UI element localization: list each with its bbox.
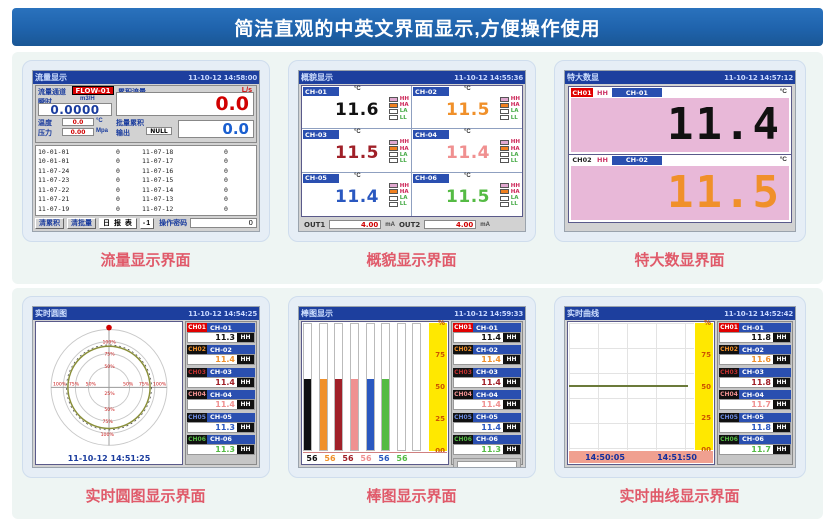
alarm-badge: HH [237, 423, 254, 432]
flow-pressure-unit: Mpa [96, 128, 108, 134]
panel5-screen: 棒图显示 11-10-12 14:59:33 00255075% 5656565… [298, 306, 526, 468]
panel6-screen: 实时曲线 11-10-12 14:52:42 00255075% 14:50:0… [564, 306, 796, 468]
channel-list-item[interactable]: CH01CH-0111.4HH [453, 323, 521, 344]
flow-channel-tag[interactable]: FLOW-01 [72, 86, 114, 95]
channel-value: 11.4 [302, 186, 379, 208]
bar-fill [351, 379, 358, 450]
channel-index-badge: CH03 [453, 368, 473, 377]
table-row: 10-01-01011-07-180 [38, 147, 254, 157]
alarm-label: HH [400, 183, 409, 189]
bar-fill [304, 379, 311, 450]
bar-column [334, 323, 343, 451]
panel2-timestamp: 11-10-12 14:55:36 [454, 74, 523, 82]
panel-polar-display[interactable]: 实时圆图 11-10-12 14:54:25 [22, 296, 270, 478]
channel-tag: CH-01 [303, 87, 339, 96]
overview-channel-cell[interactable]: CH-03°C11.5HHHALALL [302, 129, 412, 172]
alarm-row: HA [500, 189, 520, 195]
channel-list-item[interactable]: CH01CH-0111.8HH [719, 323, 791, 344]
panel4-titlebar: 实时圆图 11-10-12 14:54:25 [33, 307, 259, 320]
alarm-row: HA [500, 102, 520, 108]
bar-fill [382, 379, 389, 450]
bar-chart-value-row: 565656565656 [303, 452, 447, 464]
channel-name: CH-06 [473, 435, 521, 443]
channel-index-badge: CH04 [187, 390, 207, 399]
overview-output-bar: OUT1 4.00 mA OUT2 4.00 mA [301, 219, 523, 230]
panel2-titlebar: 概貌显示 11-10-12 14:55:36 [299, 71, 525, 84]
channel-value: 11.4 [454, 355, 503, 364]
channel-header: CH04CH-04 [719, 390, 791, 399]
channel-index-badge: CH02 [187, 345, 207, 354]
channel-value: 11.5 [412, 99, 490, 121]
alarm-indicator-icon [389, 97, 398, 102]
alarm-row: LA [500, 152, 520, 158]
channel-header: CH04CH-04 [187, 390, 255, 399]
alarm-label: HA [511, 146, 520, 152]
channel-value-row: 11.7HH [719, 399, 791, 410]
row-value-1: 0 [94, 195, 142, 203]
channel-index-badge: CH06 [453, 435, 473, 444]
row-value-1: 0 [94, 167, 142, 175]
alarm-badge: HH [773, 400, 790, 409]
channel-value: 11.8 [720, 423, 773, 432]
channel-header: CH05CH-05 [187, 413, 255, 422]
channel-value-row: 11.8HH [719, 422, 791, 433]
bar-column [412, 323, 421, 451]
channel-name: CH-02 [207, 346, 255, 354]
scale-tick-label: 75 [435, 351, 445, 359]
row-date-2: 11-07-15 [142, 176, 198, 184]
alarm-badge: HH [503, 355, 520, 364]
channel-list-item[interactable]: CH05CH-0511.4HH [453, 413, 521, 434]
panel3-titlebar: 特大数显 11-10-12 14:57:12 [565, 71, 795, 84]
alarm-badge: HH [237, 333, 254, 342]
polar-channel-list: CH01CH-0111.3HHCH02CH-0211.4HHCH03CH-031… [185, 321, 257, 465]
channel-value: 11.4 [454, 423, 503, 432]
row-value-1: 0 [94, 176, 142, 184]
panel-bar-display[interactable]: 棒图显示 11-10-12 14:59:33 00255075% 5656565… [288, 296, 536, 478]
bar-chart-scale: 00255075% [429, 323, 447, 451]
alarm-label: LA [400, 195, 408, 201]
channel-header: CH06CH-06 [187, 435, 255, 444]
channel-name: CH-05 [739, 413, 791, 421]
row-value-1: 0 [94, 205, 142, 213]
row-value-2: 0 [198, 157, 254, 165]
big-digit-block[interactable]: CH02HHCH-02°C11.5 [569, 155, 791, 223]
clear-accumulation-button[interactable]: 清累积 [35, 218, 64, 229]
alarm-indicator-icon [389, 109, 398, 114]
big-digit-value: 11.4 [667, 103, 781, 147]
alarm-row: HH [389, 139, 409, 145]
alarm-row: LA [389, 152, 409, 158]
channel-header: CH01CH-01 [719, 323, 791, 332]
bar-column [303, 323, 312, 451]
panel2-title: 概貌显示 [301, 72, 333, 83]
channel-index-badge: CH02 [453, 345, 473, 354]
alarm-label: LA [511, 152, 519, 158]
trend-chart-area[interactable]: 00255075% 14:50:05 14:51:50 [567, 321, 715, 465]
trend-time-start: 14:50:05 [569, 453, 641, 462]
channel-unit: °C [780, 88, 787, 95]
panel1-timestamp: 11-10-12 14:58:00 [188, 74, 257, 82]
channel-value: 11.3 [188, 423, 237, 432]
row-date-2: 11-07-13 [142, 195, 198, 203]
channel-name: CH-02 [473, 346, 521, 354]
channel-index-badge: CH01 [187, 323, 207, 332]
channel-tag: CH-04 [413, 130, 449, 139]
bar-channel-list: CH01CH-0111.4HHCH02CH-0211.4HHCH03CH-031… [451, 321, 523, 465]
panel-overview-display[interactable]: 概貌显示 11-10-12 14:55:36 CH-01°C11.6HHHALA… [288, 60, 536, 242]
row-date-2: 11-07-12 [142, 205, 198, 213]
channel-value: 11.3 [188, 445, 237, 454]
channel-index-badge: CH02 [571, 156, 593, 165]
big-digit-header: CH01HHCH-01°C [569, 87, 791, 98]
channel-list-item[interactable]: CH03CH-0311.8HH [719, 368, 791, 389]
bar-column [381, 323, 390, 451]
table-row: 11-07-24011-07-160 [38, 166, 254, 176]
channel-value: 11.7 [720, 445, 773, 454]
svg-text:100%: 100% [153, 382, 167, 388]
channel-list-item[interactable]: CH06CH-0611.3HH [453, 435, 521, 456]
alarm-label: HH [511, 139, 520, 145]
channel-list-item[interactable]: CH02CH-0211.6HH [719, 345, 791, 366]
alarm-label: HH [511, 96, 520, 102]
alarm-indicator-group: HHHALALL [389, 139, 409, 164]
channel-value: 11.8 [720, 333, 773, 342]
channel-name: CH-05 [473, 413, 521, 421]
alarm-indicator-icon [389, 103, 398, 108]
row-value-2: 0 [198, 148, 254, 156]
alarm-row: LL [500, 201, 520, 207]
trend-time-axis: 14:50:05 14:51:50 [569, 451, 713, 463]
row-date-1: 10-01-01 [38, 157, 94, 165]
alarm-row: LA [389, 108, 409, 114]
alarm-row: LL [389, 115, 409, 121]
out2-value: 4.00 [424, 220, 476, 229]
channel-value: 11.4 [188, 378, 237, 387]
channel-name: CH-03 [739, 368, 791, 376]
channel-value-row: 11.4HH [453, 377, 521, 388]
alarm-indicator-group: HHHALALL [500, 183, 520, 208]
channel-list-item[interactable]: CH05CH-0511.8HH [719, 413, 791, 434]
channel-unit: °C [780, 156, 787, 163]
alarm-label: HA [511, 189, 520, 195]
channel-value-row: 11.3HH [453, 444, 521, 455]
alarm-indicator-icon [500, 140, 509, 145]
row-value-1: 0 [94, 148, 142, 156]
panel5-title: 棒图显示 [301, 308, 333, 319]
alarm-badge: HH [237, 355, 254, 364]
channel-index-badge: CH03 [187, 368, 207, 377]
step-back-button[interactable]: -1 [140, 218, 154, 229]
bar-column [366, 323, 375, 451]
overview-channel-cell[interactable]: CH-06°C11.5HHHALALL [412, 173, 522, 216]
channel-value: 11.3 [188, 333, 237, 342]
channel-name: CH-05 [207, 413, 255, 421]
alarm-indicator-group: HHHALALL [500, 139, 520, 164]
channel-list-item[interactable]: CH02CH-0211.4HH [453, 345, 521, 366]
channel-value: 11.5 [412, 186, 490, 208]
channel-list-item[interactable]: CH01CH-0111.3HH [187, 323, 255, 344]
bar-column [397, 323, 406, 451]
channel-index-badge: CH06 [187, 435, 207, 444]
svg-text:100%: 100% [101, 432, 115, 438]
row-date-1: 11-07-22 [38, 186, 94, 194]
channel-name: CH-04 [473, 391, 521, 399]
panel1-titlebar: 流量显示 11-10-12 14:58:00 [33, 71, 259, 84]
panel6-title: 实时曲线 [567, 308, 599, 319]
scale-tick-label: 50 [701, 383, 711, 391]
alarm-label: LL [511, 115, 518, 121]
alarm-badge: HH [237, 445, 254, 454]
row-date-2: 11-07-16 [142, 167, 198, 175]
row-value-2: 0 [198, 205, 254, 213]
panel5-titlebar: 棒图显示 11-10-12 14:59:33 [299, 307, 525, 320]
channel-header: CH05CH-05 [453, 413, 521, 422]
channel-header: CH03CH-03 [453, 368, 521, 377]
alarm-badge: HH [773, 333, 790, 342]
panel-flow-display[interactable]: 流量显示 11-10-12 14:58:00 流量通道 FLOW-01 累积流量… [22, 60, 270, 242]
channel-list-item[interactable]: CH04CH-0411.4HH [453, 390, 521, 411]
scale-tick-label: 25 [701, 414, 711, 422]
big-digit-value: 11.5 [667, 171, 781, 215]
alarm-badge: HH [503, 378, 520, 387]
page-root: 简洁直观的中英文界面显示,方便操作使用 流量显示 11-10-12 14:58:… [0, 0, 835, 531]
channel-value: 11.4 [412, 142, 490, 164]
scale-tick-label: 75 [701, 351, 711, 359]
svg-text:100%: 100% [53, 382, 67, 388]
clear-batch-button[interactable]: 清批量 [67, 218, 96, 229]
panel4-title: 实时圆图 [35, 308, 67, 319]
panel6-body: 00255075% 14:50:05 14:51:50 CH01CH-0111.… [565, 320, 795, 467]
alarm-row: HH [500, 183, 520, 189]
alarm-indicator-icon [389, 146, 398, 151]
alarm-row: LL [389, 158, 409, 164]
alarm-label: HH [400, 96, 409, 102]
flow-temp-unit: °C [96, 118, 103, 124]
alarm-indicator-icon [389, 158, 398, 163]
channel-name: CH-06 [739, 435, 791, 443]
alarm-label: LL [511, 158, 518, 164]
alarm-row: HA [389, 146, 409, 152]
channel-index-badge: CH01 [453, 323, 473, 332]
big-digit-block[interactable]: CH01HHCH-01°C11.4 [569, 87, 791, 155]
flow-button-bar: 清累积 清批量 日 报 表 -1 操作密码 0 [35, 217, 257, 229]
channel-value: 11.4 [454, 378, 503, 387]
alarm-row: HA [500, 146, 520, 152]
panel6-titlebar: 实时曲线 11-10-12 14:52:42 [565, 307, 795, 320]
row-date-2: 11-07-17 [142, 157, 198, 165]
alarm-row: HH [389, 96, 409, 102]
channel-unit: °C [354, 173, 361, 179]
empty-slot [453, 458, 521, 468]
table-row: 11-07-21011-07-130 [38, 195, 254, 205]
alarm-row: HH [389, 183, 409, 189]
big-digit-value-area: 11.5 [571, 166, 789, 221]
panel5-body: 00255075% 565656565656 CH01CH-0111.4HHCH… [299, 320, 525, 467]
channel-name: CH-01 [739, 324, 791, 332]
panel3-timestamp: 11-10-12 14:57:12 [724, 74, 793, 82]
channel-name-tag: CH-01 [612, 88, 662, 97]
channel-name-tag: CH-02 [612, 156, 662, 165]
channel-list-item[interactable]: CH06CH-0611.7HH [719, 435, 791, 456]
channel-name: CH-02 [739, 346, 791, 354]
overview-channel-cell[interactable]: CH-05°C11.4HHHALALL [302, 173, 412, 216]
trend-chart-plot [569, 323, 694, 450]
alarm-indicator-icon [500, 115, 509, 120]
channel-index-badge: CH03 [719, 368, 739, 377]
alarm-indicator-group: HHHALALL [389, 183, 409, 208]
channel-index-badge: CH05 [187, 413, 207, 422]
flow-output-label: 输出 [116, 128, 130, 138]
flow-channel-label: 流量通道 [38, 87, 66, 97]
channel-header: CH01CH-01 [453, 323, 521, 332]
panel3-screen: 特大数显 11-10-12 14:57:12 CH01HHCH-01°C11.4… [564, 70, 796, 232]
row-value-1: 0 [94, 186, 142, 194]
channel-header: CH05CH-05 [719, 413, 791, 422]
overview-channel-cell[interactable]: CH-02°C11.5HHHALALL [412, 86, 522, 129]
row-date-1: 11-07-23 [38, 176, 94, 184]
bar-chart-plot [303, 323, 428, 451]
flow-pressure-value: 0.00 [62, 128, 94, 136]
channel-list-item[interactable]: CH04CH-0411.4HH [187, 390, 255, 411]
table-row: 10-01-01011-07-170 [38, 157, 254, 167]
alarm-indicator-icon [500, 189, 509, 194]
channel-list-item[interactable]: CH04CH-0411.7HH [719, 390, 791, 411]
flow-output-value: NULL [146, 127, 172, 135]
alarm-row: LL [500, 115, 520, 121]
alarm-label: HA [400, 146, 409, 152]
bar-value-label: 56 [321, 454, 339, 463]
row-value-2: 0 [198, 186, 254, 194]
channel-list-item[interactable]: CH02CH-0211.4HH [187, 345, 255, 366]
flow-temp-label: 温度 [38, 118, 52, 128]
scale-tick-label: % [704, 319, 711, 327]
channel-header: CH02CH-02 [719, 345, 791, 354]
caption-polar: 实时圆图显示界面 [13, 485, 278, 506]
daily-report-button[interactable]: 日 报 表 [99, 218, 137, 229]
flow-row-primary: 流量通道 FLOW-01 累积流量 L/s 瞬时 m3/H 0.0000 0.0 [36, 86, 256, 116]
alarm-label: LL [400, 115, 407, 121]
svg-text:75%: 75% [104, 352, 115, 358]
out2-unit: mA [480, 222, 490, 228]
operation-password-input[interactable]: 0 [190, 218, 257, 228]
alarm-indicator-icon [389, 152, 398, 157]
alarm-label: HH [511, 183, 520, 189]
channel-value-row: 11.3HH [187, 332, 255, 343]
overview-channel-cell[interactable]: CH-01°C11.6HHHALALL [302, 86, 412, 129]
overview-channel-cell[interactable]: CH-04°C11.4HHHALALL [412, 129, 522, 172]
channel-list-item[interactable]: CH06CH-0611.3HH [187, 435, 255, 456]
alarm-indicator-icon [500, 196, 509, 201]
channel-value: 11.7 [720, 400, 773, 409]
alarm-indicator-icon [389, 196, 398, 201]
panel4-body: 100% 75% 50% 25% 50% 75% 100% 100% 75% 5… [33, 320, 259, 467]
alarm-indicator-icon [500, 103, 509, 108]
channel-index-badge: CH05 [453, 413, 473, 422]
alarm-label: LL [400, 201, 407, 207]
channel-value-row: 11.7HH [719, 444, 791, 455]
channel-unit: °C [464, 86, 471, 92]
channel-header: CH06CH-06 [719, 435, 791, 444]
out1-label: OUT1 [304, 221, 325, 229]
panel3-title: 特大数显 [567, 72, 599, 83]
scale-tick-label: 50 [435, 383, 445, 391]
channel-value-row: 11.4HH [453, 399, 521, 410]
alarm-badge: HH [773, 445, 790, 454]
alarm-label: HH [597, 156, 608, 164]
channel-value-row: 11.4HH [453, 422, 521, 433]
caption-trend: 实时曲线显示界面 [547, 485, 812, 506]
channel-list-item[interactable]: CH05CH-0511.3HH [187, 413, 255, 434]
channel-value: 11.3 [454, 445, 503, 454]
channel-name: CH-03 [473, 368, 521, 376]
bar-fill [320, 379, 327, 450]
channel-header: CH02CH-02 [453, 345, 521, 354]
svg-text:50%: 50% [104, 364, 115, 370]
bar-column [319, 323, 328, 451]
channel-header: CH03CH-03 [719, 368, 791, 377]
alarm-badge: HH [773, 423, 790, 432]
channel-value: 11.4 [188, 400, 237, 409]
channel-value-row: 11.6HH [719, 354, 791, 365]
alarm-row: HH [500, 139, 520, 145]
svg-text:100%: 100% [102, 339, 116, 345]
channel-tag: CH-06 [413, 174, 449, 183]
channel-name: CH-01 [207, 324, 255, 332]
channel-value: 11.4 [454, 333, 503, 342]
bar-value-label: 56 [393, 454, 411, 463]
alarm-row: LL [500, 158, 520, 164]
panel3-body: CH01HHCH-01°C11.4CH02HHCH-02°C11.5 [565, 84, 795, 231]
caption-overview: 概貌显示界面 [279, 249, 544, 270]
table-row: 11-07-23011-07-150 [38, 176, 254, 186]
trend-chart-scale: 00255075% [695, 323, 713, 450]
overview-channel-grid: CH-01°C11.6HHHALALLCH-02°C11.5HHHALALLCH… [301, 85, 523, 217]
row-date-1: 11-07-21 [38, 195, 94, 203]
channel-name: CH-06 [207, 435, 255, 443]
alarm-label: LA [400, 152, 408, 158]
alarm-indicator-icon [500, 97, 509, 102]
alarm-indicator-group: HHHALALL [500, 96, 520, 121]
panel2-body: CH-01°C11.6HHHALALLCH-02°C11.5HHHALALLCH… [299, 84, 525, 231]
row-value-2: 0 [198, 176, 254, 184]
alarm-badge: HH [773, 355, 790, 364]
flow-history-table[interactable]: 10-01-01011-07-18010-01-01011-07-17011-0… [35, 145, 257, 216]
channel-list-item[interactable]: CH03CH-0311.4HH [187, 368, 255, 389]
alarm-indicator-icon [389, 202, 398, 207]
alarm-label: LL [400, 158, 407, 164]
trend-channel-list: CH01CH-0111.8HHCH02CH-0211.6HHCH03CH-031… [717, 321, 793, 465]
panel-trend-display[interactable]: 实时曲线 11-10-12 14:52:42 00255075% 14:50:0… [554, 296, 806, 478]
panel6-timestamp: 11-10-12 14:52:42 [724, 310, 793, 318]
alarm-label: HA [511, 102, 520, 108]
alarm-label: HH [597, 89, 608, 97]
polar-chart-area[interactable]: 100% 75% 50% 25% 50% 75% 100% 100% 75% 5… [35, 321, 183, 465]
channel-tag: CH-03 [303, 130, 339, 139]
flow-pressure-label: 压力 [38, 128, 52, 138]
channel-list-item[interactable]: CH03CH-0311.4HH [453, 368, 521, 389]
bar-chart-area[interactable]: 00255075% 565656565656 [301, 321, 449, 465]
channel-index-badge: CH05 [719, 413, 739, 422]
channel-unit: °C [354, 129, 361, 135]
flow-inst-value: 0.0000 [38, 103, 112, 116]
out1-value: 4.00 [329, 220, 381, 229]
channel-header: CH01CH-01 [187, 323, 255, 332]
alarm-row: HA [389, 189, 409, 195]
svg-text:50%: 50% [86, 382, 97, 388]
out2-label: OUT2 [399, 221, 420, 229]
panel-big-digit-display[interactable]: 特大数显 11-10-12 14:57:12 CH01HHCH-01°C11.4… [554, 60, 806, 242]
